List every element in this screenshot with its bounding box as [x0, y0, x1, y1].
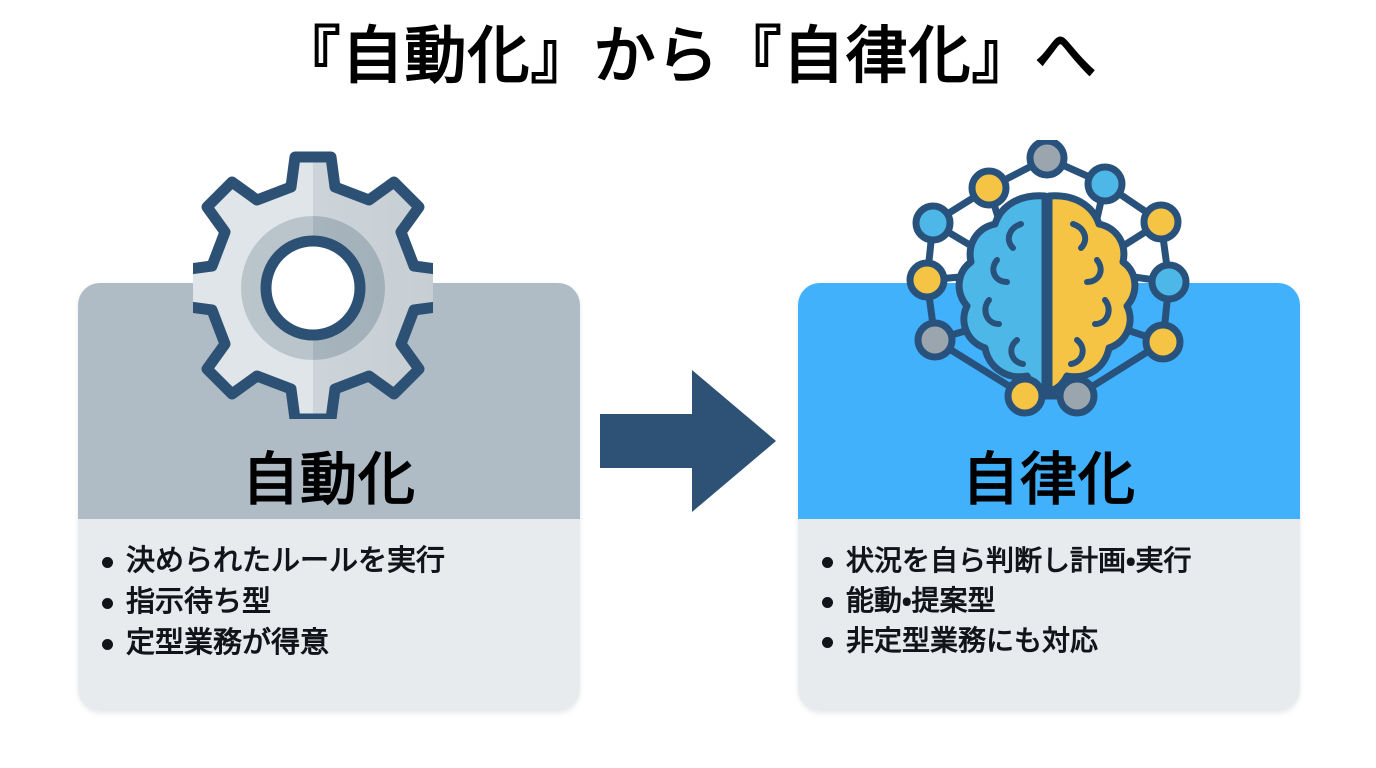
list-item: 定型業務が得意: [102, 623, 570, 664]
card-automation[interactable]: 自動化 決められたルールを実行 指示待ち型 定型業務が得意: [78, 283, 580, 711]
card-automation-body: 決められたルールを実行 指示待ち型 定型業務が得意: [78, 519, 580, 711]
bullet-dot-icon: [822, 637, 833, 648]
list-item-label: 決められたルールを実行: [126, 541, 445, 582]
card-autonomy-title: 自律化: [798, 452, 1300, 509]
slide-canvas: 『自動化』から『自律化』へ 自動化 決められたルールを実行 指示待ち型 定型業務…: [0, 0, 1376, 768]
card-automation-header: 自動化: [78, 283, 580, 519]
list-item: 指示待ち型: [102, 582, 570, 623]
bullet-dot-icon: [102, 598, 113, 609]
page-title: 『自動化』から『自律化』へ: [0, 24, 1376, 89]
card-automation-title: 自動化: [78, 452, 580, 509]
list-item-label: 非定型業務にも対応: [846, 621, 1098, 661]
list-item: 状況を自ら判断し計画・実行: [822, 541, 1290, 581]
card-autonomy-bullet-list: 状況を自ら判断し計画・実行 能動・提案型 非定型業務にも対応: [798, 541, 1300, 660]
bullet-dot-icon: [102, 557, 113, 568]
card-autonomy-body: 状況を自ら判断し計画・実行 能動・提案型 非定型業務にも対応: [798, 519, 1300, 711]
right-arrow-icon: [600, 366, 780, 516]
bullet-dot-icon: [822, 597, 833, 608]
list-item-label: 指示待ち型: [126, 582, 271, 623]
bullet-dot-icon: [102, 639, 113, 650]
card-autonomy-header: 自律化: [798, 283, 1300, 519]
list-item-label: 状況を自ら判断し計画・実行: [846, 541, 1192, 581]
list-item-label: 能動・提案型: [846, 581, 996, 621]
list-item: 非定型業務にも対応: [822, 621, 1290, 661]
card-autonomy[interactable]: 自律化 状況を自ら判断し計画・実行 能動・提案型 非定型業務にも対応: [798, 283, 1300, 711]
card-automation-bullet-list: 決められたルールを実行 指示待ち型 定型業務が得意: [78, 541, 580, 665]
list-item: 決められたルールを実行: [102, 541, 570, 582]
list-item: 能動・提案型: [822, 581, 1290, 621]
list-item-label: 定型業務が得意: [126, 623, 329, 664]
bullet-dot-icon: [822, 557, 833, 568]
